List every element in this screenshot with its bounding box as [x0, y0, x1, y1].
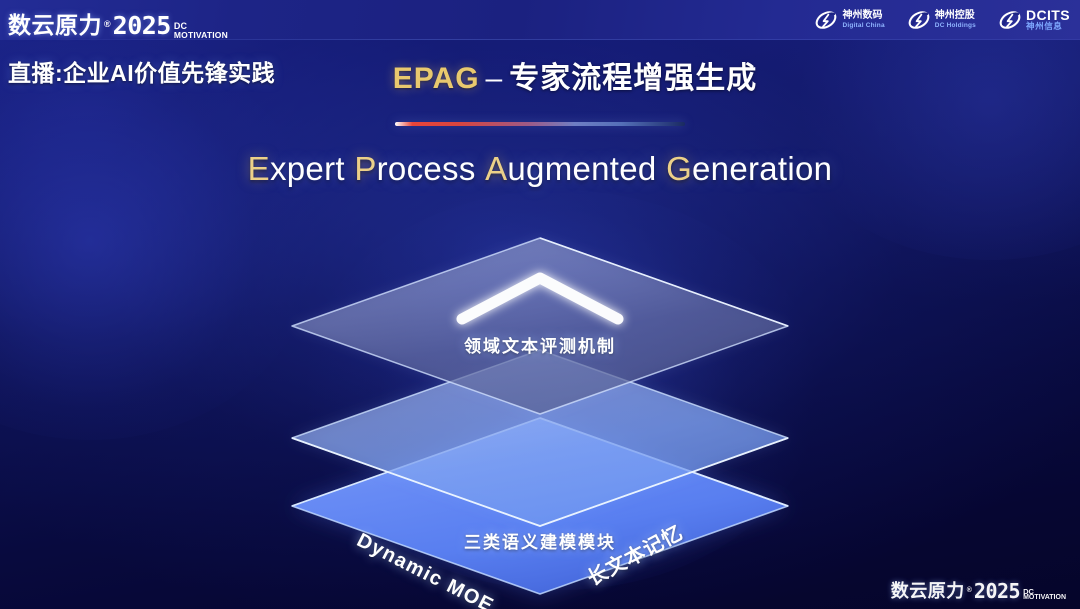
- subtitle-cap-a: A: [485, 150, 507, 187]
- partner-name-en: Digital China: [842, 22, 884, 29]
- watermark-motivation: MOTIVATION: [1023, 595, 1066, 602]
- subtitle-word-augmented: ugmented: [507, 150, 656, 187]
- layered-architecture-diagram: 三类语义建模模块: [270, 220, 810, 580]
- slide-title-acronym: EPAG: [393, 62, 480, 95]
- slide-canvas: 数云原力 ® 2025 DC MOTIVATION 神州数码 Digital C…: [0, 0, 1080, 609]
- swoosh-icon: [998, 8, 1022, 32]
- footer-watermark: 数云原力 ® 2025 DC MOTIVATION: [891, 577, 1066, 603]
- live-broadcast-title: 直播:企业AI价值先锋实践: [8, 54, 275, 88]
- brand-logo-registered: ®: [104, 19, 111, 29]
- swoosh-icon: [814, 8, 838, 32]
- partner-name-en: 神州信息: [1026, 22, 1070, 31]
- brand-logo: 数云原力 ® 2025 DC MOTIVATION: [8, 6, 228, 40]
- watermark-dc-motivation: DC MOTIVATION: [1023, 588, 1066, 602]
- swoosh-icon: [907, 8, 931, 32]
- brand-logo-cn: 数云原力: [8, 6, 102, 40]
- subtitle-word-generation: eneration: [692, 150, 832, 187]
- brand-logo-motivation: MOTIVATION: [174, 31, 228, 39]
- partner-name-cn: 神州数码: [842, 11, 884, 22]
- subtitle-word-process: rocess: [377, 150, 476, 187]
- slide-title-cn: 专家流程增强生成: [509, 62, 757, 95]
- slide-title-dash: –: [480, 62, 510, 95]
- brand-logo-year: 2025: [113, 11, 171, 40]
- english-subtitle: Expert Process Augmented Generation: [0, 150, 1080, 188]
- subtitle-cap-g: G: [666, 150, 692, 187]
- partner-logo-digital-china: 神州数码 Digital China: [814, 8, 884, 32]
- subtitle-cap-e: E: [248, 150, 270, 187]
- watermark-registered: ®: [967, 587, 972, 594]
- top-plate-shape: [270, 220, 810, 460]
- brand-logo-dc-motivation: DC MOTIVATION: [174, 22, 228, 39]
- partner-name-en: DC Holdings: [935, 22, 976, 29]
- partner-logo-dcits: DCITS 神州信息: [998, 8, 1070, 32]
- subtitle-word-expert: xpert: [270, 150, 345, 187]
- partner-name-cn: 神州控股: [935, 11, 976, 22]
- partner-logo-dc-holdings: 神州控股 DC Holdings: [907, 8, 976, 32]
- partner-logo-group: 神州数码 Digital China 神州控股 DC Holdings: [814, 6, 1070, 34]
- subtitle-cap-p: P: [354, 150, 376, 187]
- partner-name-cn: DCITS: [1026, 8, 1070, 22]
- watermark-cn: 数云原力: [891, 577, 965, 603]
- diagram-layer-top[interactable]: 领域文本评测机制: [270, 220, 810, 460]
- title-divider-rule: [395, 122, 685, 126]
- watermark-year: 2025: [974, 579, 1020, 603]
